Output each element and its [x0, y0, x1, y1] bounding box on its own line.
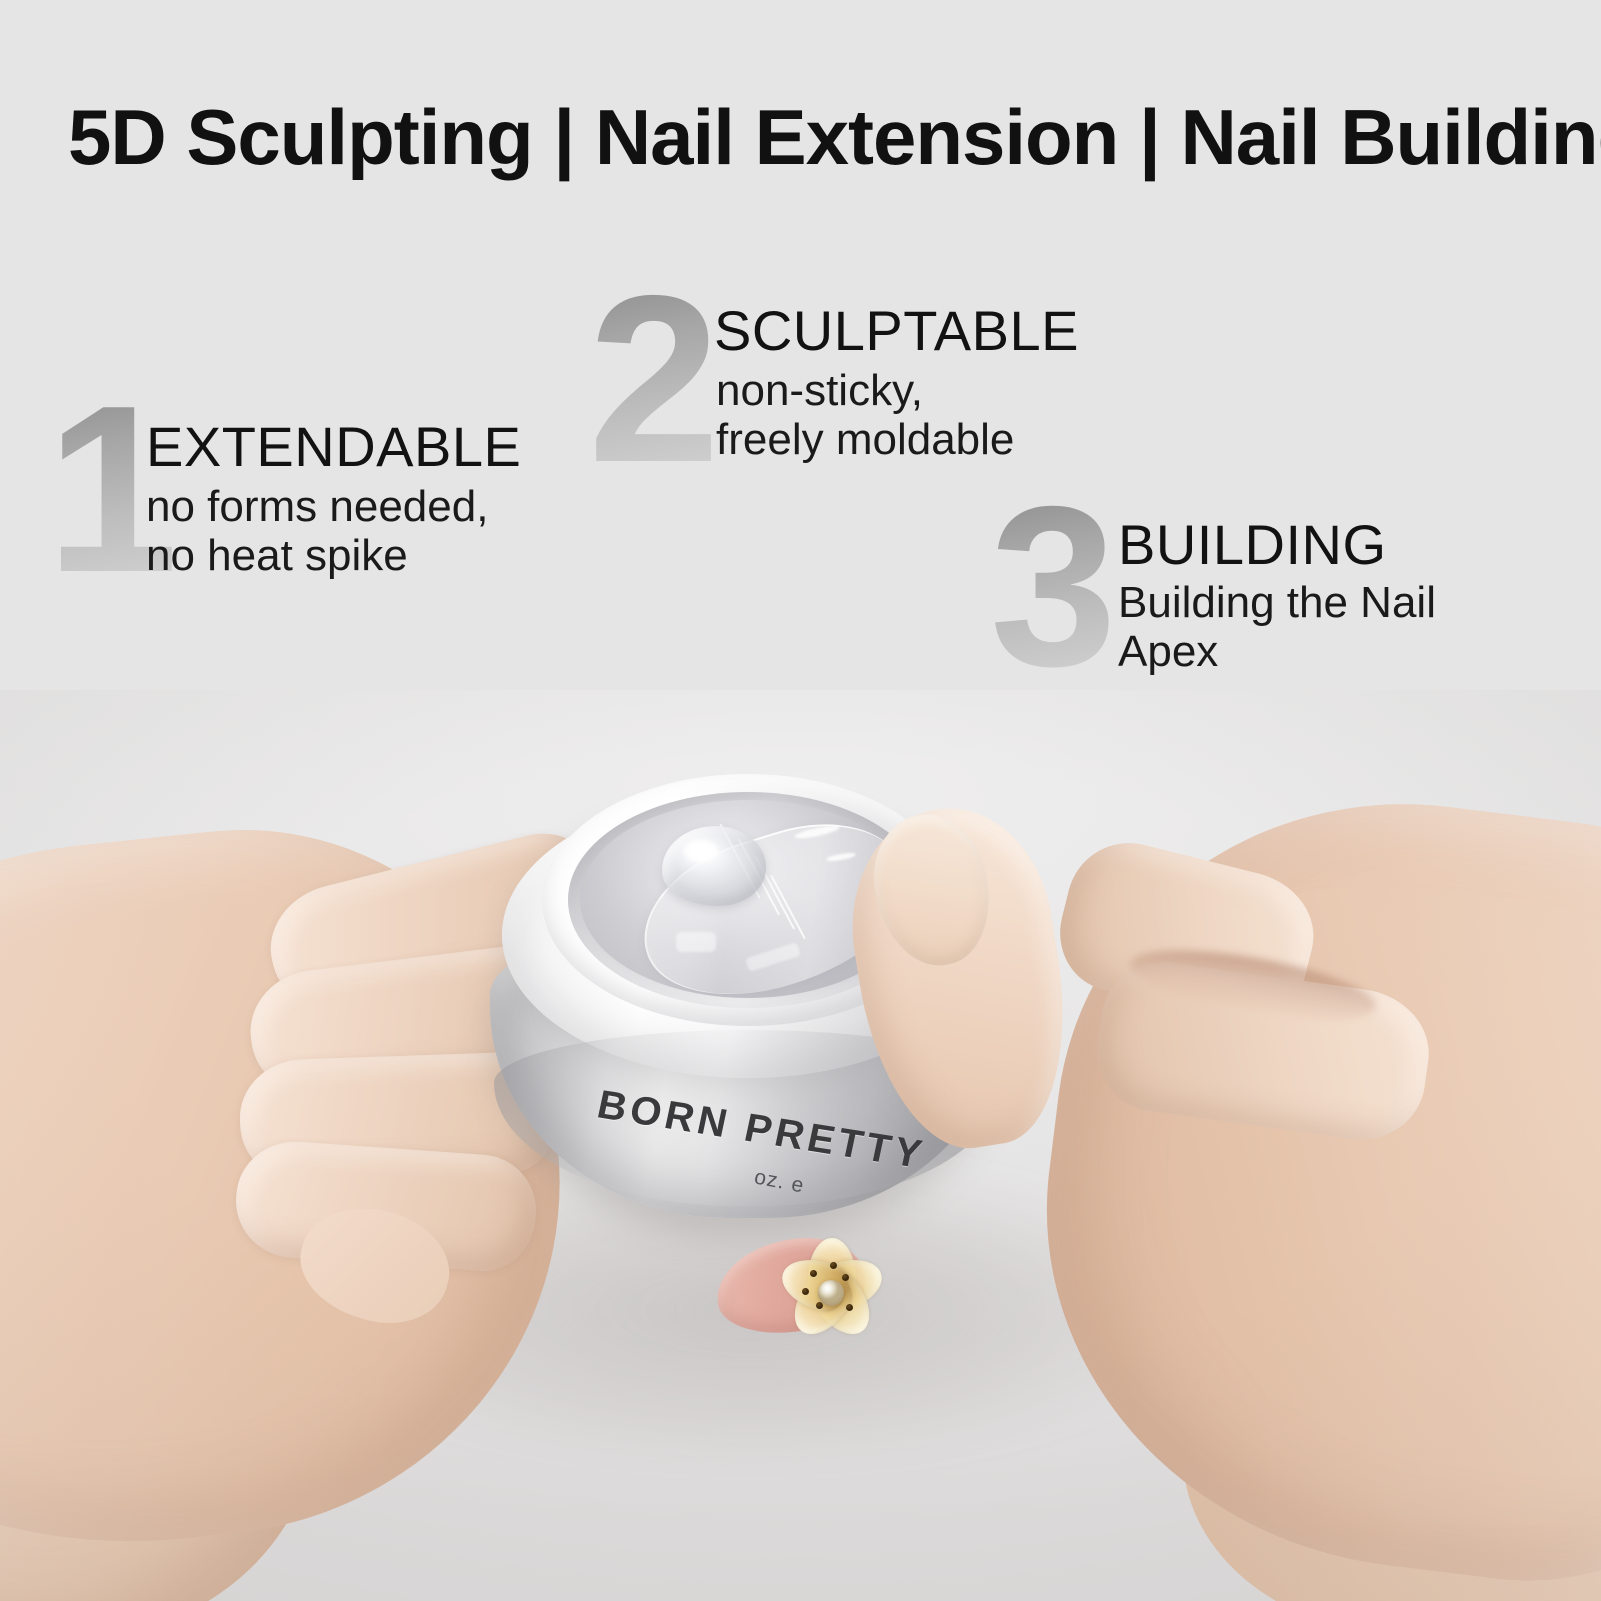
feature-number-2: 2: [588, 282, 720, 477]
feature-block-3: 3 BUILDING Building the Nail Apex: [990, 494, 1560, 714]
feature-title-2: SCULPTABLE: [714, 298, 1079, 363]
flower-dot: [846, 1304, 853, 1311]
sculpted-flower-icon: [766, 1224, 886, 1344]
rhinestone-icon: [818, 1280, 844, 1306]
flower-dot: [830, 1262, 837, 1269]
feature-subtitle-3: Building the Nail Apex: [1118, 578, 1436, 677]
feature-title-1: EXTENDABLE: [146, 414, 521, 479]
gel-blob: [662, 826, 766, 906]
feature-subtitle-1: no forms needed, no heat spike: [146, 482, 488, 581]
flower-dot: [810, 1270, 817, 1277]
feature-block-1: 1 EXTENDABLE no forms needed, no heat sp…: [46, 392, 646, 612]
product-photo: BORN PRETTY oz. e: [0, 690, 1601, 1601]
flower-dot: [842, 1274, 849, 1281]
feature-subtitle-2: non-sticky, freely moldable: [716, 366, 1014, 465]
product-feature-poster: 5D Sculpting | Nail Extension | Nail Bui…: [0, 0, 1601, 1601]
page-title: 5D Sculpting | Nail Extension | Nail Bui…: [68, 92, 1538, 183]
flower-dot: [802, 1288, 809, 1295]
decorated-nail: [716, 1224, 886, 1348]
feature-number-3: 3: [990, 494, 1117, 681]
feature-title-3: BUILDING: [1118, 512, 1387, 577]
